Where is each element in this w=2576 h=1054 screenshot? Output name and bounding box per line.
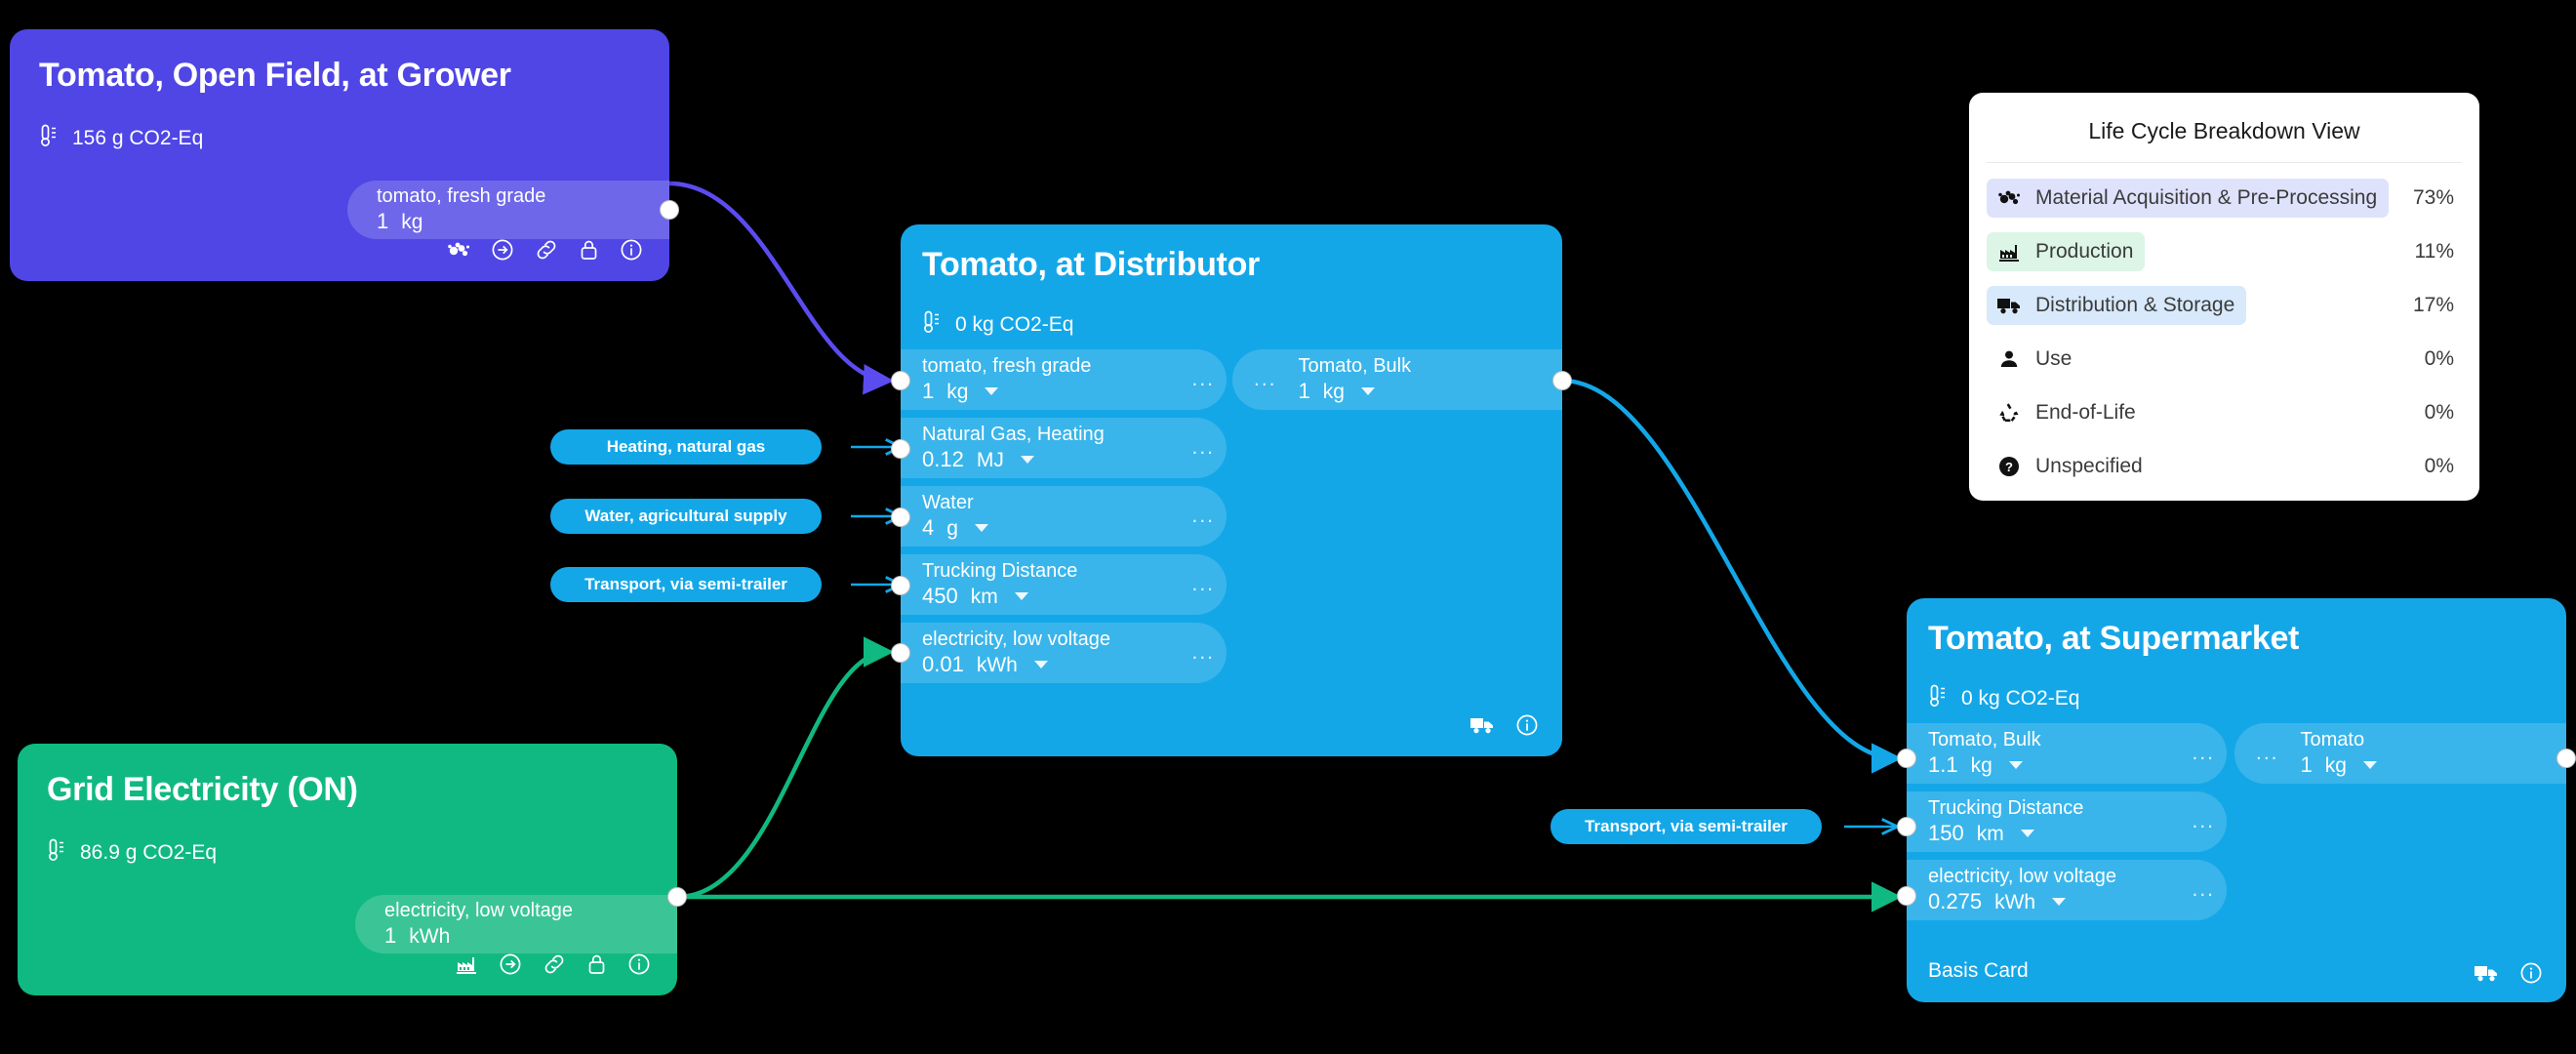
link-icon[interactable] [535,238,558,262]
port-menu-button[interactable]: ... [1191,581,1215,588]
node-tomato-at-supermarket[interactable]: Tomato, at Supermarket 0 kg CO2-Eq Tomat… [1907,598,2566,1002]
port-label: Tomato, Bulk [1299,356,1412,377]
source-pill-transport-semi-trailer-distributor[interactable]: Transport, via semi-trailer [550,567,822,602]
input-port[interactable]: tomato, fresh grade 1 kg ... [901,349,1227,410]
node-co2-value: 0 kg CO2-Eq [922,310,1073,340]
source-pill-transport-semi-trailer-supermarket[interactable]: Transport, via semi-trailer [1550,809,1822,844]
edge-grower-to-distributor [669,183,888,381]
flow-canvas[interactable]: Tomato, Open Field, at Grower 156 g CO2-… [0,0,2576,1054]
port-value: 0.275 kWh [1928,889,2116,914]
port-menu-button[interactable]: ... [1191,512,1215,520]
port-menu-button[interactable]: ... [1191,649,1215,657]
port-label: Natural Gas, Heating [922,425,1105,445]
port-menu-button[interactable]: ... [2256,750,2279,757]
life-cycle-breakdown-panel[interactable]: Life Cycle Breakdown View Material Acqui… [1969,93,2479,501]
port-value: 1 kg [2301,752,2377,778]
port-label: electricity, low voltage [1928,867,2116,887]
breakdown-row-unspecified[interactable]: ? Unspecified 0% [1987,439,2462,493]
breakdown-list: Material Acquisition & Pre-Processing 73… [1987,162,2462,493]
recycle-icon [1996,400,2022,426]
port-value: 0.01 kWh [922,652,1110,677]
port-value: 1 kWh [384,923,573,949]
pill-label: Transport, via semi-trailer [1585,817,1788,836]
breakdown-row-distribution-storage[interactable]: Distribution & Storage 17% [1987,278,2462,332]
port-label: Trucking Distance [1928,798,2083,819]
info-icon[interactable] [627,953,651,976]
breakdown-row-use[interactable]: Use 0% [1987,332,2462,385]
unit-dropdown-caret-icon[interactable] [985,387,998,395]
breakdown-percent: 0% [2425,347,2462,371]
node-co2-value: 86.9 g CO2-Eq [47,838,217,868]
breakdown-percent: 11% [2415,240,2462,263]
port-label: tomato, fresh grade [377,186,545,207]
port-label: electricity, low voltage [922,629,1110,650]
truck-icon[interactable] [2474,963,2499,983]
unit-dropdown-caret-icon[interactable] [1015,592,1028,600]
co2-text: 0 kg CO2-Eq [955,313,1073,337]
lock-icon[interactable] [586,953,607,976]
distributor-output-ports: ... Tomato, Bulk 1 kg [1232,349,1562,410]
output-port[interactable]: ... Tomato 1 kg [2234,723,2566,784]
input-port[interactable]: Natural Gas, Heating 0.12 MJ ... [901,418,1227,478]
edge-distributor-to-supermarket [1562,381,1896,758]
pill-label: Heating, natural gas [607,437,765,457]
node-co2-value: 156 g CO2-Eq [39,124,203,153]
supermarket-icon-row[interactable] [2474,961,2543,985]
breakdown-label: Material Acquisition & Pre-Processing [2035,186,2377,210]
breakdown-percent: 17% [2413,294,2462,317]
supermarket-input-ports: Tomato, Bulk 1.1 kg ... Trucking Distanc… [1907,723,2227,928]
input-port[interactable]: electricity, low voltage 0.01 kWh ... [901,623,1227,683]
thermometer-icon [1928,684,1948,713]
pill-label: Transport, via semi-trailer [584,575,787,594]
thermometer-icon [47,838,66,868]
breakdown-label: Distribution & Storage [2035,294,2234,317]
port-menu-button[interactable]: ... [2192,750,2215,757]
thermometer-icon [922,310,942,340]
factory-icon [1996,239,2022,264]
port-value: 150 km [1928,821,2083,846]
material-acquisition-icon[interactable] [447,240,470,260]
arrow-right-circle-icon[interactable] [491,238,514,262]
basis-card-label: Basis Card [1928,959,2029,983]
breakdown-percent: 73% [2413,186,2462,210]
unit-dropdown-caret-icon[interactable] [1021,456,1034,464]
input-handle-3[interactable] [891,507,910,527]
panel-title: Life Cycle Breakdown View [1987,93,2462,162]
input-port[interactable]: Trucking Distance 150 km ... [1907,791,2227,852]
breakdown-row-material-acquisition[interactable]: Material Acquisition & Pre-Processing 73… [1987,171,2462,224]
port-value: 4 g [922,515,988,541]
lock-icon[interactable] [579,238,599,262]
input-port[interactable]: Water 4 g ... [901,486,1227,547]
info-icon[interactable] [620,238,643,262]
co2-text: 0 kg CO2-Eq [1961,687,2079,710]
node-grid-electricity-on[interactable]: Grid Electricity (ON) 86.9 g CO2-Eq elec… [18,744,677,995]
output-port-tomato-fresh-grade[interactable]: tomato, fresh grade 1 kg [347,181,669,239]
source-pill-water-agricultural-supply[interactable]: Water, agricultural supply [550,499,822,534]
breakdown-label: Unspecified [2035,455,2143,478]
port-value: 450 km [922,584,1077,609]
material-acquisition-icon [1996,185,2022,211]
port-value: 0.12 MJ [922,447,1105,472]
port-value: 1 kg [1299,379,1412,404]
co2-text: 156 g CO2-Eq [72,127,203,150]
unit-dropdown-caret-icon[interactable] [1361,387,1375,395]
supermarket-output-ports: ... Tomato 1 kg [2234,723,2566,784]
port-label: Trucking Distance [922,561,1077,582]
breakdown-label: Production [2035,240,2133,263]
grower-icon-row[interactable] [447,238,643,262]
node-co2-value: 0 kg CO2-Eq [1928,684,2079,713]
node-title: Grid Electricity (ON) [47,771,358,809]
thermometer-icon [39,124,59,153]
input-handle-2[interactable] [891,439,910,459]
info-icon[interactable] [1515,713,1539,737]
grid-icon-row[interactable] [455,953,651,976]
input-handle-5[interactable] [891,643,910,663]
breakdown-label: End-of-Life [2035,401,2136,425]
pill-label: Water, agricultural supply [584,507,786,526]
breakdown-row-production[interactable]: Production 11% [1987,224,2462,278]
truck-icon[interactable] [1469,715,1495,735]
unit-dropdown-caret-icon[interactable] [2052,898,2066,906]
port-menu-button[interactable]: ... [1191,376,1215,384]
port-menu-button[interactable]: ... [1191,444,1215,452]
output-handle-grid[interactable] [667,887,687,907]
edge-grid-to-distributor [677,652,888,897]
factory-icon[interactable] [455,953,478,975]
port-value: 1 kg [377,209,545,234]
node-tomato-open-field-at-grower[interactable]: Tomato, Open Field, at Grower 156 g CO2-… [10,29,669,281]
breakdown-percent: 0% [2425,401,2462,425]
unit-dropdown-caret-icon[interactable] [2021,830,2034,837]
port-value: 1.1 kg [1928,752,2041,778]
node-title: Tomato, at Supermarket [1928,620,2299,658]
port-menu-button[interactable]: ... [2192,886,2215,894]
distributor-input-ports: tomato, fresh grade 1 kg ... Natural Gas… [901,349,1227,691]
port-label: Tomato, Bulk [1928,730,2041,750]
port-label: Tomato [2301,730,2377,750]
info-icon[interactable] [2519,961,2543,985]
node-title: Tomato, at Distributor [922,246,1260,284]
breakdown-percent: 0% [2425,455,2462,478]
unit-dropdown-caret-icon[interactable] [1034,661,1048,669]
output-port-electricity-low-voltage[interactable]: electricity, low voltage 1 kWh [355,895,677,953]
unit-dropdown-caret-icon[interactable] [2009,761,2023,769]
input-handle-1[interactable] [1897,749,1916,768]
input-port[interactable]: Tomato, Bulk 1.1 kg ... [1907,723,2227,784]
co2-text: 86.9 g CO2-Eq [80,841,217,865]
output-handle-grower[interactable] [660,200,679,220]
distributor-icon-row[interactable] [1469,713,1539,737]
arrow-right-circle-icon[interactable] [499,953,522,976]
input-handle-1[interactable] [891,371,910,390]
breakdown-label: Use [2035,347,2072,371]
breakdown-row-end-of-life[interactable]: End-of-Life 0% [1987,385,2462,439]
output-handle-supermarket[interactable] [2556,749,2576,768]
input-handle-4[interactable] [891,576,910,595]
port-label: Water [922,493,988,513]
input-handle-2[interactable] [1897,817,1916,836]
port-label: tomato, fresh grade [922,356,1091,377]
port-label: electricity, low voltage [384,901,573,921]
node-title: Tomato, Open Field, at Grower [39,57,511,95]
port-menu-button[interactable]: ... [1254,376,1277,384]
person-icon [1996,346,2022,372]
unit-dropdown-caret-icon[interactable] [975,524,988,532]
output-handle-distributor[interactable] [1552,371,1572,390]
input-port[interactable]: electricity, low voltage 0.275 kWh ... [1907,860,2227,920]
port-menu-button[interactable]: ... [2192,818,2215,826]
source-pill-heating-natural-gas[interactable]: Heating, natural gas [550,429,822,465]
truck-icon [1996,293,2022,318]
input-handle-3[interactable] [1897,886,1916,906]
unit-dropdown-caret-icon[interactable] [2363,761,2377,769]
node-tomato-at-distributor[interactable]: Tomato, at Distributor 0 kg CO2-Eq tomat… [901,224,1562,756]
output-port[interactable]: ... Tomato, Bulk 1 kg [1232,349,1562,410]
svg-text:?: ? [2005,460,2013,474]
port-value: 1 kg [922,379,1091,404]
input-port[interactable]: Trucking Distance 450 km ... [901,554,1227,615]
link-icon[interactable] [543,953,566,976]
question-mark-icon: ? [1996,454,2022,479]
